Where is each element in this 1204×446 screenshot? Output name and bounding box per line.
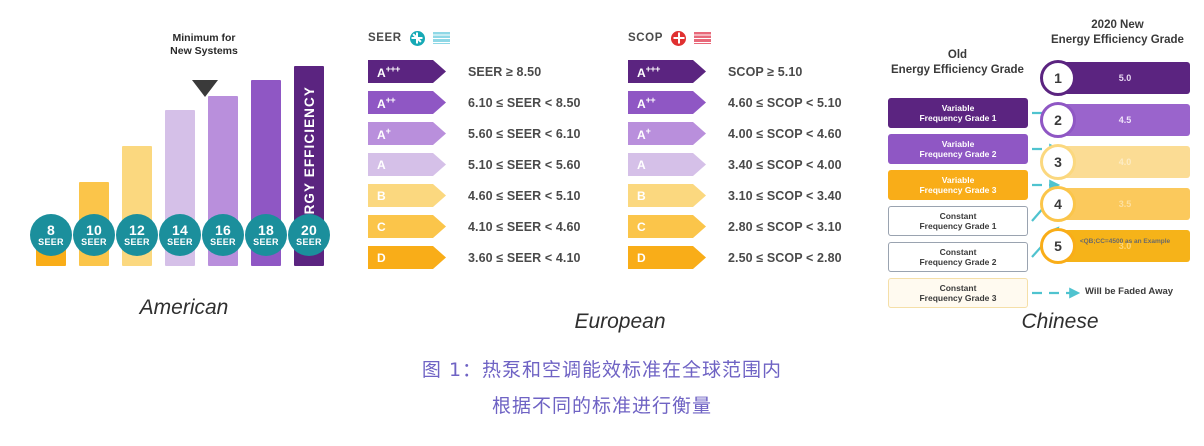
efficiency-grade-row: A5.10 ≤ SEER < 5.60: [368, 151, 618, 178]
grade-condition: 4.60 ≤ SEER < 5.10: [468, 189, 581, 203]
old-grade-line-2: Frequency Grade 1: [919, 113, 996, 123]
seer-badge-unit: SEER: [38, 238, 64, 247]
grade-label: A: [637, 159, 646, 171]
grade-condition: 4.10 ≤ SEER < 4.60: [468, 220, 581, 234]
chinese-example-note: <QB;CC=4500 as an Example: [1055, 238, 1195, 245]
seer-badge: 14SEER: [159, 214, 201, 256]
efficiency-grade-row: A++6.10 ≤ SEER < 8.50: [368, 89, 618, 116]
old-grade-line-1: Variable: [942, 139, 975, 149]
grade-arrow-badge: A+: [368, 122, 446, 145]
european-seer-table: SEER A+++SEER ≥ 8.50A++6.10 ≤ SEER < 8.5…: [368, 28, 618, 275]
region-label-american: American: [14, 296, 354, 320]
seer-badge: 16SEER: [202, 214, 244, 256]
new-grade-heading: 2020 New Energy Efficiency Grade: [1035, 18, 1200, 48]
efficiency-grade-row: A3.40 ≤ SCOP < 4.00: [628, 151, 878, 178]
old-grade-line-1: Constant: [940, 283, 977, 293]
seer-badge-value: 12: [129, 223, 145, 237]
old-grade-line-2: Frequency Grade 3: [919, 293, 996, 303]
seer-badge: 10SEER: [73, 214, 115, 256]
grade-label: C: [637, 221, 646, 233]
grade-label: A+++: [637, 65, 660, 79]
will-be-faded-away-label: Will be Faded Away: [1085, 286, 1173, 297]
grade-arrow-badge: B: [628, 184, 706, 207]
seer-badge: 20SEER: [288, 214, 330, 256]
grade-condition: 5.10 ≤ SEER < 5.60: [468, 158, 581, 172]
new-grade-rank-circle: 5: [1040, 228, 1076, 264]
old-grade-line-1: Variable: [942, 103, 975, 113]
seer-badge-unit: SEER: [253, 238, 279, 247]
grade-condition: 2.50 ≤ SCOP < 2.80: [728, 251, 842, 265]
seer-badge-unit: SEER: [81, 238, 107, 247]
sun-icon: [671, 31, 686, 46]
new-grade-bar: 3.0: [1060, 230, 1190, 262]
grade-label: D: [637, 252, 646, 264]
efficiency-grade-row: B3.10 ≤ SCOP < 3.40: [628, 182, 878, 209]
grade-arrow-badge: A++: [368, 91, 446, 114]
new-grade-row: 4.03: [1040, 146, 1190, 178]
efficiency-grade-row: A++4.60 ≤ SCOP < 5.10: [628, 89, 878, 116]
efficiency-grade-row: A+++SCOP ≥ 5.10: [628, 58, 878, 85]
old-grade-box: VariableFrequency Grade 1: [888, 98, 1028, 128]
scop-keyword: SCOP: [628, 32, 663, 44]
grade-label: A+: [377, 127, 390, 141]
grade-label: A+: [637, 127, 650, 141]
old-grade-line-2: Frequency Grade 2: [919, 149, 996, 159]
scop-table-header: SCOP: [628, 28, 878, 48]
chinese-panel: Old Energy Efficiency Grade 2020 New Ene…: [880, 10, 1200, 335]
infographic-canvas: Minimum for New Systems 8SEER10SEER12SEE…: [0, 0, 1204, 446]
region-label-chinese: Chinese: [960, 310, 1160, 334]
old-grade-box: ConstantFrequency Grade 3: [888, 278, 1028, 308]
old-grade-line-1: Variable: [942, 175, 975, 185]
efficiency-grade-row: A+5.60 ≤ SEER < 6.10: [368, 120, 618, 147]
new-grade-bar: 4.0: [1060, 146, 1190, 178]
new-grade-rank-circle: 3: [1040, 144, 1076, 180]
new-grade-bar: 4.5: [1060, 104, 1190, 136]
grade-label: A++: [637, 96, 655, 110]
region-label-european: European: [490, 310, 750, 334]
caption-line-1: 图 1：热泵和空调能效标准在全球范围内: [0, 352, 1204, 388]
grade-label: D: [377, 252, 386, 264]
grade-condition: 2.80 ≤ SCOP < 3.10: [728, 220, 842, 234]
new-grade-rank-circle: 1: [1040, 60, 1076, 96]
grade-condition: 6.10 ≤ SEER < 8.50: [468, 96, 581, 110]
old-grade-line-2: Frequency Grade 3: [919, 185, 996, 195]
european-scop-table: SCOP A+++SCOP ≥ 5.10A++4.60 ≤ SCOP < 5.1…: [628, 28, 878, 275]
old-grade-box: ConstantFrequency Grade 2: [888, 242, 1028, 272]
grade-arrow-badge: D: [368, 246, 446, 269]
old-grade-line-2: Frequency Grade 1: [919, 221, 996, 231]
efficiency-grade-row: A+4.00 ≤ SCOP < 4.60: [628, 120, 878, 147]
grade-condition: 3.60 ≤ SEER < 4.10: [468, 251, 581, 265]
snowflake-icon: [410, 31, 425, 46]
seer-table-header: SEER: [368, 28, 618, 48]
old-grade-heading: Old Energy Efficiency Grade: [880, 48, 1035, 78]
us-flag-icon: [694, 32, 711, 44]
efficiency-grade-row: C4.10 ≤ SEER < 4.60: [368, 213, 618, 240]
efficiency-grade-row: D3.60 ≤ SEER < 4.10: [368, 244, 618, 271]
old-grade-box: VariableFrequency Grade 2: [888, 134, 1028, 164]
figure-caption: 图 1：热泵和空调能效标准在全球范围内 根据不同的标准进行衡量: [0, 352, 1204, 424]
old-grade-line-1: Constant: [940, 247, 977, 257]
seer-badge-value: 16: [215, 223, 231, 237]
grade-arrow-badge: B: [368, 184, 446, 207]
new-grade-rank-circle: 2: [1040, 102, 1076, 138]
grade-condition: SCOP ≥ 5.10: [728, 65, 802, 79]
grade-condition: 4.60 ≤ SCOP < 5.10: [728, 96, 842, 110]
seer-badge-value: 18: [258, 223, 274, 237]
old-grade-line-1: Constant: [940, 211, 977, 221]
caption-line-2: 根据不同的标准进行衡量: [0, 388, 1204, 424]
grade-arrow-badge: A+++: [628, 60, 706, 83]
seer-badge-value: 10: [86, 223, 102, 237]
efficiency-grade-row: C2.80 ≤ SCOP < 3.10: [628, 213, 878, 240]
old-grade-box: VariableFrequency Grade 3: [888, 170, 1028, 200]
new-grade-row: 3.54: [1040, 188, 1190, 220]
efficiency-grade-row: A+++SEER ≥ 8.50: [368, 58, 618, 85]
new-grade-row: 5.01: [1040, 62, 1190, 94]
seer-badge-unit: SEER: [124, 238, 150, 247]
seer-badge-value: 20: [301, 223, 317, 237]
seer-badge-value: 14: [172, 223, 188, 237]
grade-arrow-badge: A: [368, 153, 446, 176]
grade-condition: 3.10 ≤ SCOP < 3.40: [728, 189, 842, 203]
old-grade-box: ConstantFrequency Grade 1: [888, 206, 1028, 236]
grade-condition: 4.00 ≤ SCOP < 4.60: [728, 127, 842, 141]
new-grade-row: 3.05: [1040, 230, 1190, 262]
seer-badge: 18SEER: [245, 214, 287, 256]
grade-label: B: [637, 190, 646, 202]
old-grade-line-2: Frequency Grade 2: [919, 257, 996, 267]
grade-condition: SEER ≥ 8.50: [468, 65, 541, 79]
american-bar-chart: 8SEER10SEER12SEER14SEER16SEER18SEERENERG…: [36, 34, 336, 266]
grade-label: C: [377, 221, 386, 233]
grade-condition: 3.40 ≤ SCOP < 4.00: [728, 158, 842, 172]
grade-arrow-badge: D: [628, 246, 706, 269]
seer-badge-value: 8: [47, 223, 55, 237]
american-panel: Minimum for New Systems 8SEER10SEER12SEE…: [14, 14, 354, 334]
grade-arrow-badge: A: [628, 153, 706, 176]
efficiency-grade-row: B4.60 ≤ SEER < 5.10: [368, 182, 618, 209]
seer-badge-unit: SEER: [296, 238, 322, 247]
grade-arrow-badge: C: [368, 215, 446, 238]
grade-label: B: [377, 190, 386, 202]
grade-label: A: [377, 159, 386, 171]
seer-badge: 12SEER: [116, 214, 158, 256]
seer-badge: 8SEER: [30, 214, 72, 256]
efficiency-grade-row: D2.50 ≤ SCOP < 2.80: [628, 244, 878, 271]
grade-label: A+++: [377, 65, 400, 79]
grade-arrow-badge: A+++: [368, 60, 446, 83]
new-grade-row: 4.52: [1040, 104, 1190, 136]
grade-label: A++: [377, 96, 395, 110]
seer-keyword: SEER: [368, 32, 402, 44]
grade-arrow-badge: C: [628, 215, 706, 238]
grade-condition: 5.60 ≤ SEER < 6.10: [468, 127, 581, 141]
seer-badge-unit: SEER: [167, 238, 193, 247]
eu-flag-icon: [433, 32, 450, 44]
new-grade-bar: 3.5: [1060, 188, 1190, 220]
new-grade-bar: 5.0: [1060, 62, 1190, 94]
new-grade-rank-circle: 4: [1040, 186, 1076, 222]
grade-arrow-badge: A++: [628, 91, 706, 114]
seer-badge-unit: SEER: [210, 238, 236, 247]
grade-arrow-badge: A+: [628, 122, 706, 145]
